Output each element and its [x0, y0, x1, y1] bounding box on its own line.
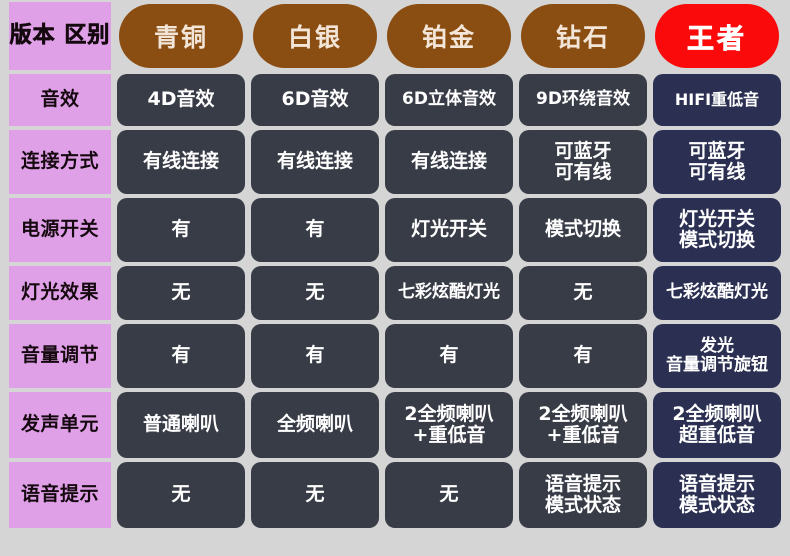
data-cell: 七彩炫酷灯光 — [650, 264, 784, 322]
data-cell-value[interactable]: 有 — [385, 324, 513, 388]
data-cell: 9D环绕音效 — [516, 72, 650, 128]
data-cell: 有 — [248, 322, 382, 390]
column-header-5[interactable]: 王者 — [655, 4, 779, 68]
data-cell: 七彩炫酷灯光 — [382, 264, 516, 322]
data-cell-value[interactable]: 模式切换 — [519, 198, 647, 262]
data-cell-value[interactable]: 无 — [117, 462, 245, 528]
data-cell-value[interactable]: 9D环绕音效 — [519, 74, 647, 126]
row-label: 语音提示 — [9, 462, 111, 528]
row-label-cell: 发声单元 — [6, 390, 114, 460]
data-cell-value[interactable]: 4D音效 — [117, 74, 245, 126]
data-cell-value[interactable]: 2全频喇叭 +重低音 — [385, 392, 513, 458]
data-cell-value[interactable]: 语音提示 模式状态 — [519, 462, 647, 528]
column-header-4[interactable]: 钻石 — [521, 4, 645, 68]
column-header-1[interactable]: 青铜 — [119, 4, 243, 68]
data-cell: HIFI重低音 — [650, 72, 784, 128]
table-row: 连接方式有线连接有线连接有线连接可蓝牙 可有线可蓝牙 可有线 — [0, 128, 790, 196]
column-header-cell-1: 青铜 — [114, 0, 248, 72]
data-cell: 普通喇叭 — [114, 390, 248, 460]
data-cell: 无 — [516, 264, 650, 322]
row-label-cell: 灯光效果 — [6, 264, 114, 322]
data-cell: 模式切换 — [516, 196, 650, 264]
data-cell-value[interactable]: 发光 音量调节旋钮 — [653, 324, 781, 388]
table-header-row: 版本 区别青铜白银铂金钻石王者 — [0, 0, 790, 72]
data-cell: 有 — [516, 322, 650, 390]
data-cell: 有 — [382, 322, 516, 390]
data-cell-value[interactable]: 七彩炫酷灯光 — [653, 266, 781, 320]
data-cell: 语音提示 模式状态 — [516, 460, 650, 530]
data-cell-value[interactable]: 有 — [117, 324, 245, 388]
data-cell-value[interactable]: 有 — [519, 324, 647, 388]
data-cell-value[interactable]: 有 — [251, 324, 379, 388]
row-label: 发声单元 — [9, 392, 111, 458]
row-label-cell: 音量调节 — [6, 322, 114, 390]
corner-label: 版本 区别 — [9, 2, 111, 70]
data-cell: 无 — [382, 460, 516, 530]
table-row: 音效4D音效6D音效6D立体音效9D环绕音效HIFI重低音 — [0, 72, 790, 128]
table-row: 灯光效果无无七彩炫酷灯光无七彩炫酷灯光 — [0, 264, 790, 322]
corner-cell: 版本 区别 — [6, 0, 114, 72]
data-cell: 有 — [114, 196, 248, 264]
row-label: 音效 — [9, 74, 111, 126]
row-label: 灯光效果 — [9, 266, 111, 320]
data-cell-value[interactable]: 七彩炫酷灯光 — [385, 266, 513, 320]
data-cell: 2全频喇叭 +重低音 — [516, 390, 650, 460]
data-cell-value[interactable]: 2全频喇叭 +重低音 — [519, 392, 647, 458]
data-cell: 4D音效 — [114, 72, 248, 128]
data-cell: 无 — [248, 460, 382, 530]
data-cell: 有 — [248, 196, 382, 264]
data-cell: 有线连接 — [248, 128, 382, 196]
data-cell: 无 — [114, 460, 248, 530]
data-cell: 有 — [114, 322, 248, 390]
row-label: 连接方式 — [9, 130, 111, 194]
comparison-table: 版本 区别青铜白银铂金钻石王者音效4D音效6D音效6D立体音效9D环绕音效HIF… — [0, 0, 790, 556]
data-cell-value[interactable]: 6D音效 — [251, 74, 379, 126]
data-cell-value[interactable]: 灯光开关 模式切换 — [653, 198, 781, 262]
column-header-cell-3: 铂金 — [382, 0, 516, 72]
column-header-cell-2: 白银 — [248, 0, 382, 72]
data-cell: 可蓝牙 可有线 — [516, 128, 650, 196]
row-label-cell: 电源开关 — [6, 196, 114, 264]
data-cell-value[interactable]: 无 — [251, 266, 379, 320]
data-cell: 语音提示 模式状态 — [650, 460, 784, 530]
data-cell-value[interactable]: 有线连接 — [385, 130, 513, 194]
data-cell-value[interactable]: 无 — [519, 266, 647, 320]
data-cell: 6D立体音效 — [382, 72, 516, 128]
row-label: 音量调节 — [9, 324, 111, 388]
data-cell: 有线连接 — [114, 128, 248, 196]
data-cell: 2全频喇叭 +重低音 — [382, 390, 516, 460]
data-cell-value[interactable]: 可蓝牙 可有线 — [653, 130, 781, 194]
data-cell-value[interactable]: 无 — [251, 462, 379, 528]
data-cell: 无 — [248, 264, 382, 322]
data-cell-value[interactable]: 灯光开关 — [385, 198, 513, 262]
data-cell-value[interactable]: 有 — [117, 198, 245, 262]
data-cell: 6D音效 — [248, 72, 382, 128]
data-cell: 有线连接 — [382, 128, 516, 196]
data-cell: 2全频喇叭 超重低音 — [650, 390, 784, 460]
data-cell: 发光 音量调节旋钮 — [650, 322, 784, 390]
data-cell: 无 — [114, 264, 248, 322]
column-header-cell-5: 王者 — [650, 0, 784, 72]
data-cell-value[interactable]: HIFI重低音 — [653, 74, 781, 126]
data-cell-value[interactable]: 无 — [117, 266, 245, 320]
data-cell-value[interactable]: 无 — [385, 462, 513, 528]
row-label-cell: 连接方式 — [6, 128, 114, 196]
table-row: 语音提示无无无语音提示 模式状态语音提示 模式状态 — [0, 460, 790, 530]
data-cell-value[interactable]: 有线连接 — [251, 130, 379, 194]
table-row: 电源开关有有灯光开关模式切换灯光开关 模式切换 — [0, 196, 790, 264]
table-row: 音量调节有有有有发光 音量调节旋钮 — [0, 322, 790, 390]
data-cell-value[interactable]: 2全频喇叭 超重低音 — [653, 392, 781, 458]
column-header-3[interactable]: 铂金 — [387, 4, 511, 68]
data-cell-value[interactable]: 全频喇叭 — [251, 392, 379, 458]
data-cell-value[interactable]: 有 — [251, 198, 379, 262]
data-cell: 灯光开关 — [382, 196, 516, 264]
data-cell-value[interactable]: 普通喇叭 — [117, 392, 245, 458]
column-header-2[interactable]: 白银 — [253, 4, 377, 68]
table-row: 发声单元普通喇叭全频喇叭2全频喇叭 +重低音2全频喇叭 +重低音2全频喇叭 超重… — [0, 390, 790, 460]
row-label: 电源开关 — [9, 198, 111, 262]
row-label-cell: 语音提示 — [6, 460, 114, 530]
data-cell-value[interactable]: 6D立体音效 — [385, 74, 513, 126]
data-cell: 灯光开关 模式切换 — [650, 196, 784, 264]
column-header-cell-4: 钻石 — [516, 0, 650, 72]
data-cell: 可蓝牙 可有线 — [650, 128, 784, 196]
row-label-cell: 音效 — [6, 72, 114, 128]
data-cell-value[interactable]: 可蓝牙 可有线 — [519, 130, 647, 194]
data-cell-value[interactable]: 语音提示 模式状态 — [653, 462, 781, 528]
data-cell: 全频喇叭 — [248, 390, 382, 460]
data-cell-value[interactable]: 有线连接 — [117, 130, 245, 194]
